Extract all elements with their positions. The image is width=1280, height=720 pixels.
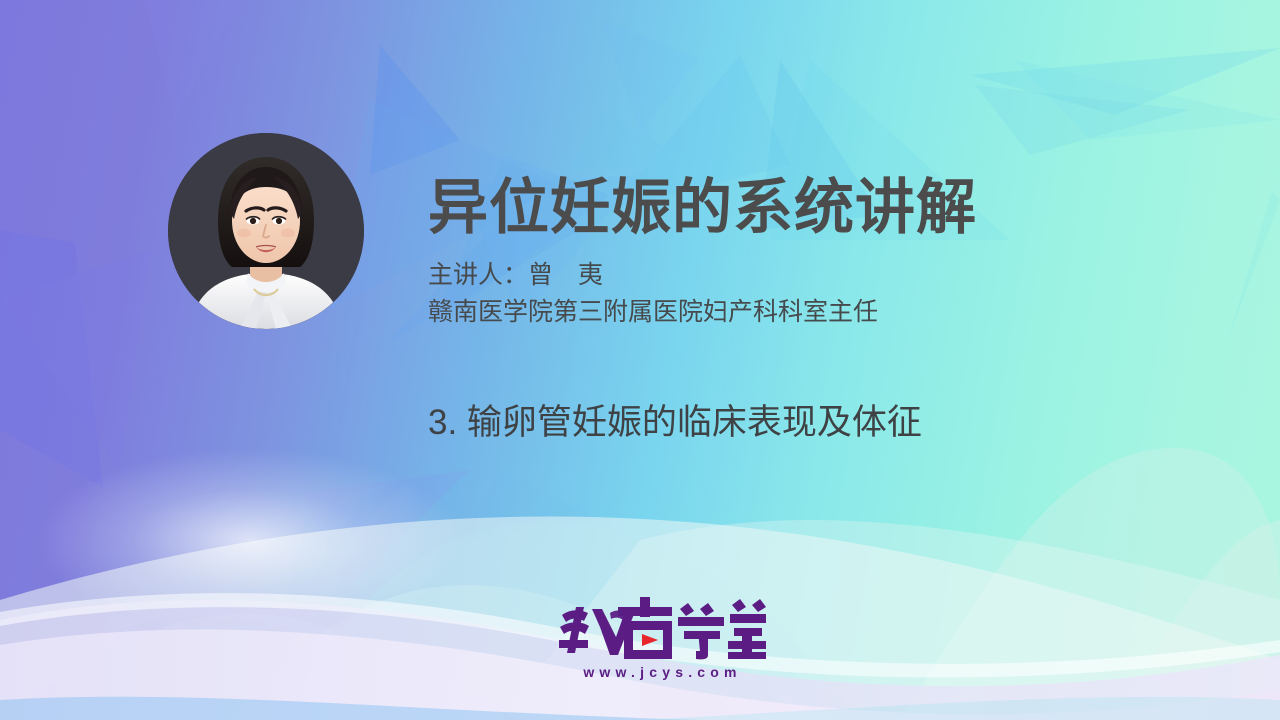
wave-bottom-blue xyxy=(0,697,700,720)
section-heading: 3. 输卵管妊娠的临床表现及体征 xyxy=(428,402,922,444)
logo-url: www.jcys.com xyxy=(554,664,766,680)
light-glow xyxy=(35,448,465,632)
speaker-affiliation: 赣南医学院第三附属医院妇产科科室主任 xyxy=(428,297,1128,328)
avatar-portrait xyxy=(168,133,364,329)
avatar xyxy=(168,133,364,329)
logo-wordmark-icon xyxy=(554,597,766,663)
play-triangle-icon xyxy=(642,634,658,646)
course-title-slide: 异位妊娠的系统讲解 主讲人：曾 夷 赣南医学院第三附属医院妇产科科室主任 3. … xyxy=(0,0,1280,720)
wave-bottom-right xyxy=(640,697,1280,720)
brand-logo: www.jcys.com xyxy=(554,597,766,687)
speaker-name: 主讲人：曾 夷 xyxy=(428,260,1128,291)
headline-block: 异位妊娠的系统讲解 主讲人：曾 夷 赣南医学院第三附属医院妇产科科室主任 xyxy=(428,178,1128,327)
page-title: 异位妊娠的系统讲解 xyxy=(428,178,1128,238)
